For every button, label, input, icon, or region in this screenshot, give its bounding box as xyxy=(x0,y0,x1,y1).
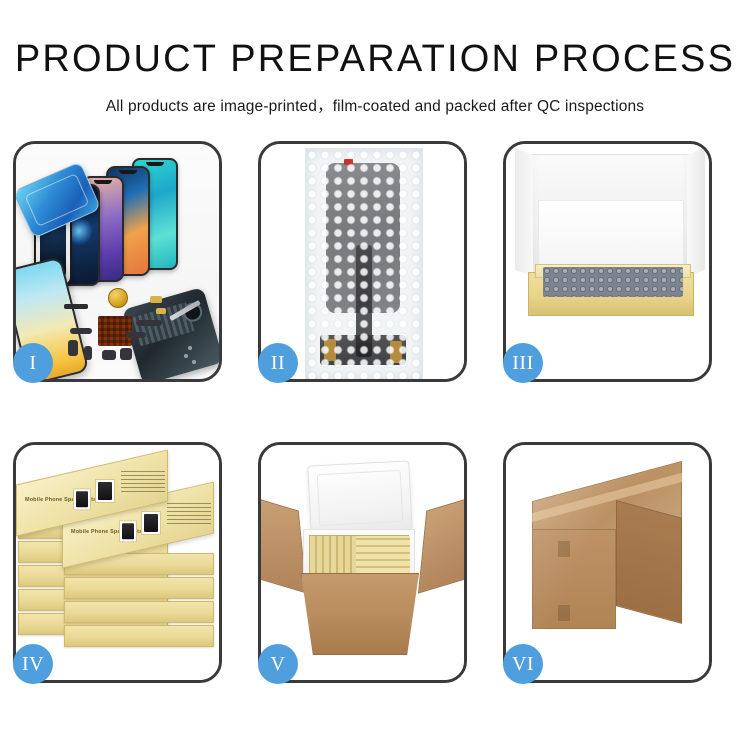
page-title: PRODUCT PREPARATION PROCESS xyxy=(0,40,750,78)
gold-connector-icon xyxy=(390,341,402,363)
page-subtitle: All products are image-printed，film-coat… xyxy=(0,94,750,116)
carton-seam xyxy=(558,605,570,621)
product-window xyxy=(73,488,91,510)
step-image-2 xyxy=(261,144,464,379)
speaker-coil-icon xyxy=(108,288,128,308)
stacked-box-item xyxy=(64,625,214,647)
connector-icon xyxy=(68,340,78,356)
notch-icon xyxy=(94,180,112,184)
notch-icon xyxy=(119,170,137,174)
step-image-1 xyxy=(16,144,219,379)
volume-flex-icon xyxy=(136,320,162,326)
product-window xyxy=(119,520,137,542)
cardboard-carton-icon xyxy=(301,573,419,655)
step-badge-2: II xyxy=(258,343,298,383)
box-spec-text-lines xyxy=(167,500,211,524)
earpiece-mesh-icon xyxy=(64,304,88,309)
step-badge-4: IV xyxy=(13,644,53,684)
step-image-4: Mobile Phone Spare Parts Mobile Phone Sp… xyxy=(16,445,219,680)
step-panel-3: III xyxy=(503,141,712,382)
chip-array-icon xyxy=(98,316,132,346)
gray-bubble-wrap-icon xyxy=(543,267,683,297)
step-image-6 xyxy=(506,445,709,680)
styrofoam-lid-icon xyxy=(307,460,413,535)
box-spec-text-lines xyxy=(121,468,165,492)
connector-icon xyxy=(84,346,92,360)
ribbon-cable-icon xyxy=(126,332,146,338)
product-window xyxy=(141,511,161,535)
step-badge-6: VI xyxy=(503,644,543,684)
spare-parts-group xyxy=(64,290,204,376)
white-foam-sheet-icon xyxy=(538,200,684,272)
step-panel-6: VI xyxy=(503,442,712,683)
step-image-3 xyxy=(506,144,709,379)
header: PRODUCT PREPARATION PROCESS All products… xyxy=(0,0,750,116)
gold-connector-icon xyxy=(324,339,336,361)
product-window xyxy=(95,479,115,503)
step-badge-1: I xyxy=(13,343,53,383)
carton-flap-left xyxy=(261,496,307,593)
stacked-box-item xyxy=(64,601,214,623)
step-badge-5: V xyxy=(258,644,298,684)
button-flex-icon xyxy=(102,350,116,360)
screw-icon xyxy=(184,354,188,358)
screw-icon xyxy=(192,360,196,364)
stacked-boxes-graphic: Mobile Phone Spare Parts Mobile Phone Sp… xyxy=(16,463,219,663)
gold-contact-icon xyxy=(150,296,162,303)
step-panel-1: I xyxy=(13,141,222,382)
steps-grid: I II xyxy=(13,141,737,683)
camera-module-icon xyxy=(120,348,132,360)
gold-contact-icon xyxy=(156,308,166,314)
flex-cable-icon xyxy=(70,328,92,334)
notch-icon xyxy=(146,162,164,166)
product-preparation-infographic: PRODUCT PREPARATION PROCESS All products… xyxy=(0,0,750,750)
step-badge-3: III xyxy=(503,343,543,383)
carton-seam xyxy=(558,541,570,557)
carton-front-face xyxy=(532,529,616,629)
carton-flap-right xyxy=(418,496,464,593)
carton-side-face xyxy=(616,500,682,624)
yellow-tray-box-icon xyxy=(528,272,694,316)
step-image-5 xyxy=(261,445,464,680)
bubble-wrap-bag-icon xyxy=(305,148,423,379)
tweezers-icon xyxy=(169,300,201,321)
screw-icon xyxy=(188,346,192,350)
step-panel-4: Mobile Phone Spare Parts Mobile Phone Sp… xyxy=(13,442,222,683)
step-panel-5: V xyxy=(258,442,467,683)
stacked-box-item xyxy=(64,577,214,599)
label-sticker-icon xyxy=(344,159,353,165)
step-panel-2: II xyxy=(258,141,467,382)
